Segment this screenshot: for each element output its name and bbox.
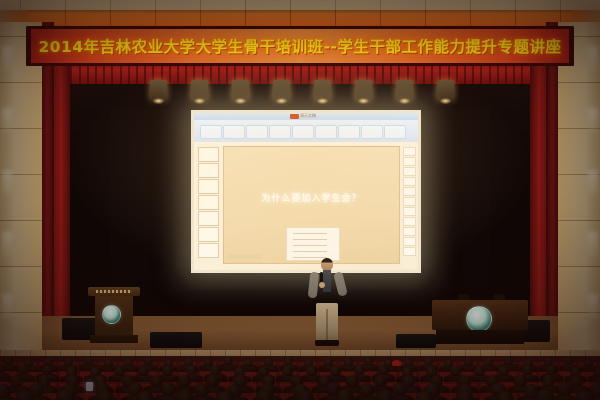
audience-head [536,389,554,400]
audience-head [161,382,176,396]
audience-head [136,391,154,400]
audience-head [364,357,373,365]
ppt-titlebar: 演示文稿 [194,113,418,120]
audience-head [324,358,333,366]
audience-head [504,357,513,365]
audience-head [542,375,555,387]
presenter-hand [319,282,325,288]
audience-head [336,389,354,400]
audience-head [484,358,493,366]
audience-head [56,389,74,400]
stage-light [355,80,372,100]
phone-screen [86,382,93,391]
pane-row [403,217,416,226]
pane-row [403,177,416,186]
wall-seam [0,82,42,83]
red-clothing [392,360,401,366]
pane-row [403,247,416,256]
audience-head [378,365,389,375]
wall-trim-left [42,22,54,352]
audience-head [424,357,433,365]
head-table [432,294,528,344]
slide-thumbnail [198,163,219,178]
stage-light [314,80,331,100]
audience-head [186,365,197,375]
audience-head [84,357,93,365]
audience-head [296,390,314,400]
audience-head [546,365,557,375]
stage-light [396,80,413,100]
pane-row [403,197,416,206]
wall-light-glow [2,46,12,72]
audience-head [0,384,11,398]
audience-head [206,375,219,387]
wall-trim-right [546,22,558,352]
slide-thumbnail [198,227,219,242]
audience-head [570,375,583,387]
wall-light-glow [2,108,12,134]
proscenium-beam [0,10,600,27]
audience-head [464,358,473,366]
presenter-shirt [323,270,331,292]
event-banner: 2014年吉林农业大学大学生骨干培训班--学生干部工作能力提升专题讲座 [31,29,569,63]
audience-head [18,365,29,375]
audience-head [584,359,593,367]
audience-head [10,375,23,387]
audience-head [346,375,359,387]
floor-speaker-right [396,334,436,348]
ppt-slide: 为什么要加入学生会？ [223,146,400,264]
wall-light-glow [2,294,12,320]
pane-row [403,187,416,196]
stage-light [273,80,290,100]
wall-light-glow [2,232,12,258]
audience-head [16,390,34,400]
audience-head [256,389,274,400]
floor-speaker-left [150,332,202,348]
audience-head [416,391,434,400]
slide-thumbnail [198,179,219,194]
audience-head [354,365,365,375]
presenter-shoes [315,340,339,346]
slide-footer-block [228,254,262,259]
wall-seam [558,220,600,221]
audience-head [204,358,213,366]
slide-thumbnail [198,147,219,162]
audience-head [576,390,594,400]
ribbon-group [269,125,291,139]
auditorium-photo: 2014年吉林农业大学大学生骨干培训班--学生干部工作能力提升专题讲座 演示文稿… [0,0,600,400]
wall-light-glow [588,232,598,258]
powerpoint-logo-icon [290,114,299,119]
audience-head [474,366,485,376]
audience-head [124,358,133,366]
ribbon-group [246,125,268,139]
audience-head [144,357,153,365]
presenter [309,258,345,346]
audience-head [282,366,293,376]
slide-thumbnail [198,195,219,210]
lectern [88,287,140,343]
audience-head [210,365,221,375]
audience-head [306,366,317,376]
audience-head [64,358,73,366]
audience-head [522,365,533,375]
audience-head [244,359,253,367]
lectern-control-panel [96,290,132,293]
slide-title-text: 为什么要加入学生会？ [224,191,399,204]
audience-head [104,359,113,367]
stage-light-bar [150,80,470,106]
ribbon-group [292,125,314,139]
head-table-base [436,330,524,344]
ribbon-group [338,125,360,139]
audience-head [330,366,341,376]
audience-head [498,366,509,376]
audience-head [138,366,149,376]
audience-head [114,366,125,376]
university-emblem-icon [102,305,121,324]
ribbon-group [200,125,222,139]
banner-title-text: 2014年吉林农业大学大学生骨干培训班--学生干部工作能力提升专题讲座 [38,35,561,57]
audience-head [264,358,273,366]
audience-head [376,390,394,400]
curtain-left [54,62,70,350]
audience-head [450,366,461,376]
stage-light [191,80,208,100]
pane-row [403,157,416,166]
ribbon-group [223,125,245,139]
ribbon-group [361,125,383,139]
slide-overlay-box [286,227,340,261]
ppt-title-text: 演示文稿 [300,113,316,119]
wall-light-glow [2,170,12,196]
audience-head [557,382,572,396]
ppt-slide-thumbnail-panel [196,144,220,268]
wall-light-glow [588,108,598,134]
wall-light-glow [588,46,598,72]
audience-head [374,375,387,387]
audience-head [4,357,13,365]
pane-row [403,237,416,246]
audience-head [194,383,209,397]
projection-screen: 演示文稿 为什么要加入学生会？ [194,113,418,270]
wall-seam [0,220,42,221]
presenter-trousers [316,303,338,341]
audience-head [42,365,53,375]
university-emblem-icon [466,306,492,332]
pane-row [403,227,416,236]
wall-seam [558,266,600,267]
wall-seam [558,82,600,83]
audience-head [284,357,293,365]
lectern-base [90,335,138,343]
audience-head [162,366,173,376]
side-wall-left [0,22,42,352]
wall-light-glow [588,170,598,196]
slide-thumbnail [198,243,219,258]
stage-light [437,80,454,100]
stage-light [150,80,167,100]
ppt-ribbon [194,120,418,142]
projection-screen-frame: 演示文稿 为什么要加入学生会？ [191,110,421,273]
curtain-right [530,62,546,350]
audience-head [178,375,191,387]
pane-row [403,167,416,176]
audience-head [96,390,114,400]
audience-head [404,358,413,366]
pane-row [403,207,416,216]
wall-light-glow [588,294,598,320]
audience-head [359,383,374,397]
pane-row [403,147,416,156]
stage-light [232,80,249,100]
audience-head [344,358,353,366]
side-wall-right [558,22,600,352]
audience-head [564,357,573,365]
wall-seam [0,266,42,267]
ribbon-group [315,125,337,139]
ppt-right-pane [402,144,416,268]
audience-head [224,357,233,365]
slide-thumbnail [198,211,219,226]
audience-head [392,382,407,396]
ribbon-group [384,125,406,139]
audience-head [594,367,600,377]
audience-area [0,356,600,400]
